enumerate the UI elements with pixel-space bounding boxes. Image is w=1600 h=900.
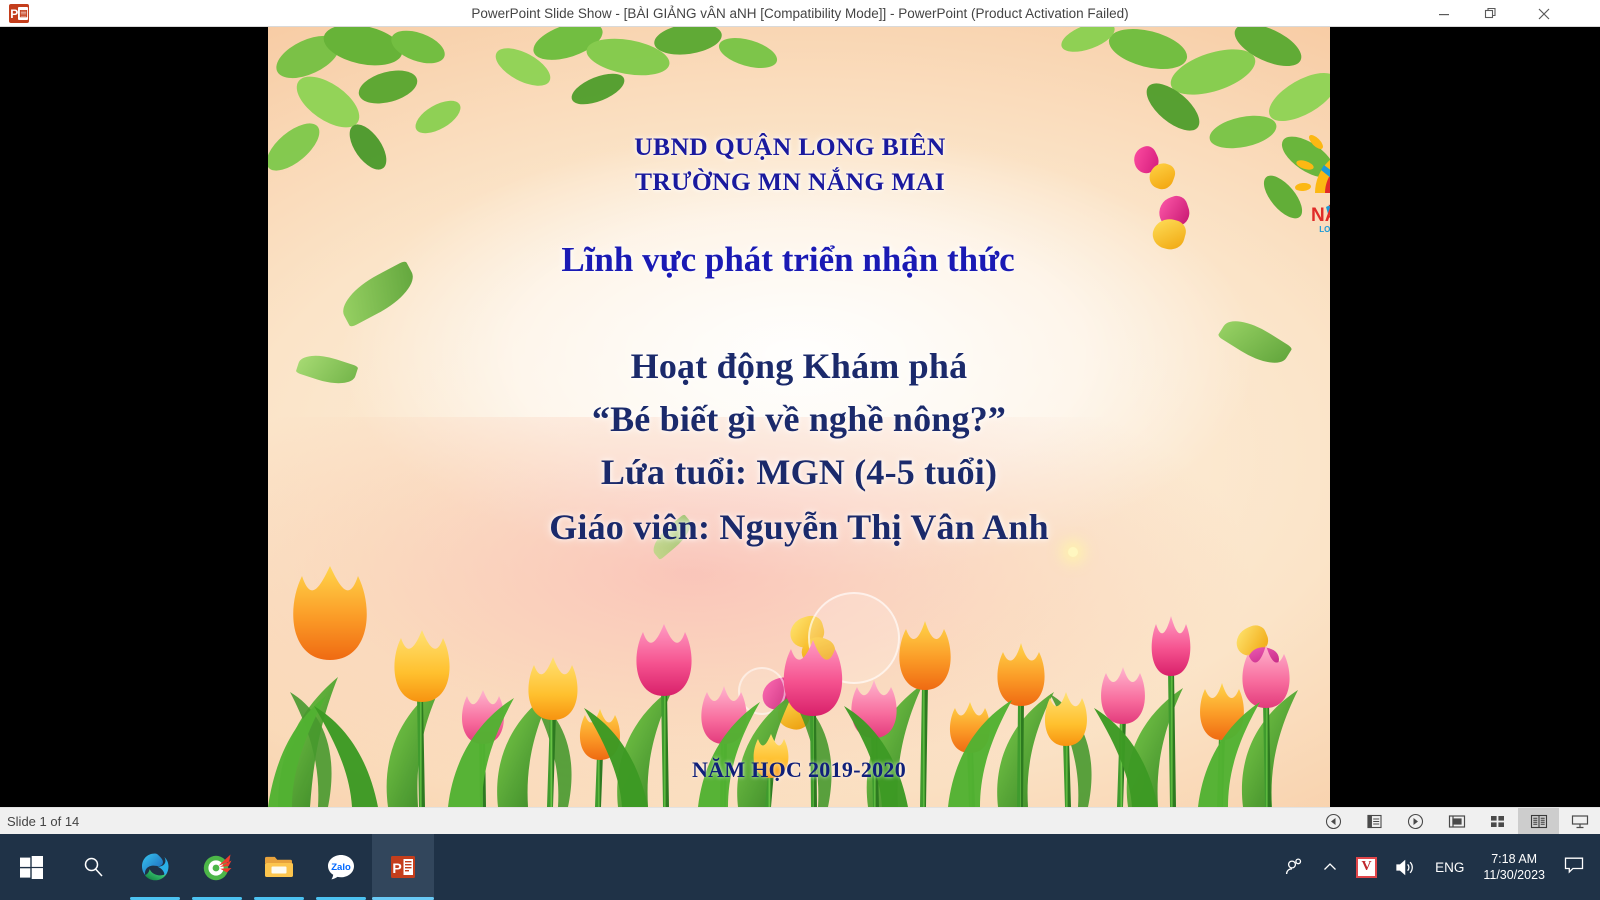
clock-date: 11/30/2023 bbox=[1483, 867, 1545, 883]
slideshow-button[interactable] bbox=[1559, 808, 1600, 835]
slide-body-line-2: “Bé biết gì về nghề nông?” bbox=[268, 398, 1330, 440]
next-slide-button[interactable] bbox=[1395, 808, 1436, 835]
search-button[interactable] bbox=[62, 834, 124, 900]
slideshow-canvas[interactable]: Mầm non NẮNG MAI LONG BIÊN - HÀ NỘI UBND… bbox=[0, 27, 1600, 807]
windows-logo-icon bbox=[20, 856, 43, 879]
view-controls bbox=[1313, 808, 1600, 835]
svg-text:P: P bbox=[392, 860, 401, 876]
status-bar: Slide 1 of 14 bbox=[0, 807, 1600, 834]
slide-sorter-button[interactable] bbox=[1477, 808, 1518, 835]
close-button[interactable] bbox=[1522, 0, 1566, 27]
chevron-up-icon bbox=[1322, 859, 1338, 875]
file-explorer-button[interactable] bbox=[248, 834, 310, 900]
speaker-icon bbox=[1395, 858, 1416, 877]
search-icon bbox=[82, 856, 104, 878]
slide-content[interactable]: Mầm non NẮNG MAI LONG BIÊN - HÀ NỘI UBND… bbox=[268, 27, 1330, 807]
clock-time: 7:18 AM bbox=[1483, 851, 1545, 867]
slide-header-line-2: TRƯỜNG MN NẮNG MAI bbox=[268, 167, 1330, 197]
previous-slide-button[interactable] bbox=[1313, 808, 1354, 835]
language-indicator[interactable]: ENG bbox=[1425, 860, 1474, 875]
slide-body-line-4: Giáo viên: Nguyễn Thị Vân Anh bbox=[268, 506, 1330, 548]
start-button[interactable] bbox=[0, 834, 62, 900]
unikey-button[interactable]: V bbox=[1347, 834, 1386, 900]
edge-browser-icon bbox=[140, 852, 170, 882]
powerpoint-icon: P bbox=[389, 853, 417, 881]
slide-indicator: Slide 1 of 14 bbox=[7, 814, 79, 829]
reading-view-button[interactable] bbox=[1518, 808, 1559, 835]
zalo-icon: Zalo bbox=[326, 852, 356, 882]
window-titlebar: P▤ PowerPoint Slide Show - [BÀI GIẢNG vÂ… bbox=[0, 0, 1600, 27]
clock[interactable]: 7:18 AM 11/30/2023 bbox=[1474, 851, 1554, 883]
unikey-icon: V bbox=[1356, 857, 1377, 878]
zalo-button[interactable]: Zalo bbox=[310, 834, 372, 900]
slide-header-line-1: UBND QUẬN LONG BIÊN bbox=[268, 132, 1330, 162]
notification-icon bbox=[1564, 856, 1584, 874]
all-slides-button[interactable] bbox=[1354, 808, 1395, 835]
green-circle-app-icon bbox=[202, 852, 232, 882]
slide-title: Lĩnh vực phát triển nhận thức bbox=[268, 240, 1330, 280]
powerpoint-icon: P▤ bbox=[9, 4, 29, 23]
normal-view-button[interactable] bbox=[1436, 808, 1477, 835]
svg-text:Zalo: Zalo bbox=[331, 862, 351, 873]
volume-button[interactable] bbox=[1386, 834, 1425, 900]
tray-overflow-button[interactable] bbox=[1313, 834, 1347, 900]
powerpoint-taskbar-button[interactable]: P bbox=[372, 834, 434, 900]
slide-body-line-1: Hoạt động Khám phá bbox=[268, 345, 1330, 387]
edge-button[interactable] bbox=[124, 834, 186, 900]
system-tray: V ENG 7:18 AM 11/30/2023 bbox=[1275, 834, 1600, 900]
slide-text-block: UBND QUẬN LONG BIÊN TRƯỜNG MN NẮNG MAI L… bbox=[268, 27, 1330, 807]
window-title: PowerPoint Slide Show - [BÀI GIẢNG vÂN a… bbox=[0, 6, 1600, 21]
slide-body-line-3: Lứa tuổi: MGN (4-5 tuổi) bbox=[268, 451, 1330, 493]
taskbar-items: Zalo P bbox=[0, 834, 434, 900]
minimize-button[interactable] bbox=[1422, 0, 1466, 27]
people-button[interactable] bbox=[1275, 834, 1313, 900]
media-app-button[interactable] bbox=[186, 834, 248, 900]
people-icon bbox=[1284, 857, 1304, 877]
folder-icon bbox=[264, 854, 294, 880]
action-center-button[interactable] bbox=[1554, 856, 1600, 879]
slide-footer: NĂM HỌC 2019-2020 bbox=[268, 757, 1330, 783]
windows-taskbar: Zalo P V bbox=[0, 834, 1600, 900]
restore-button[interactable] bbox=[1468, 0, 1512, 27]
